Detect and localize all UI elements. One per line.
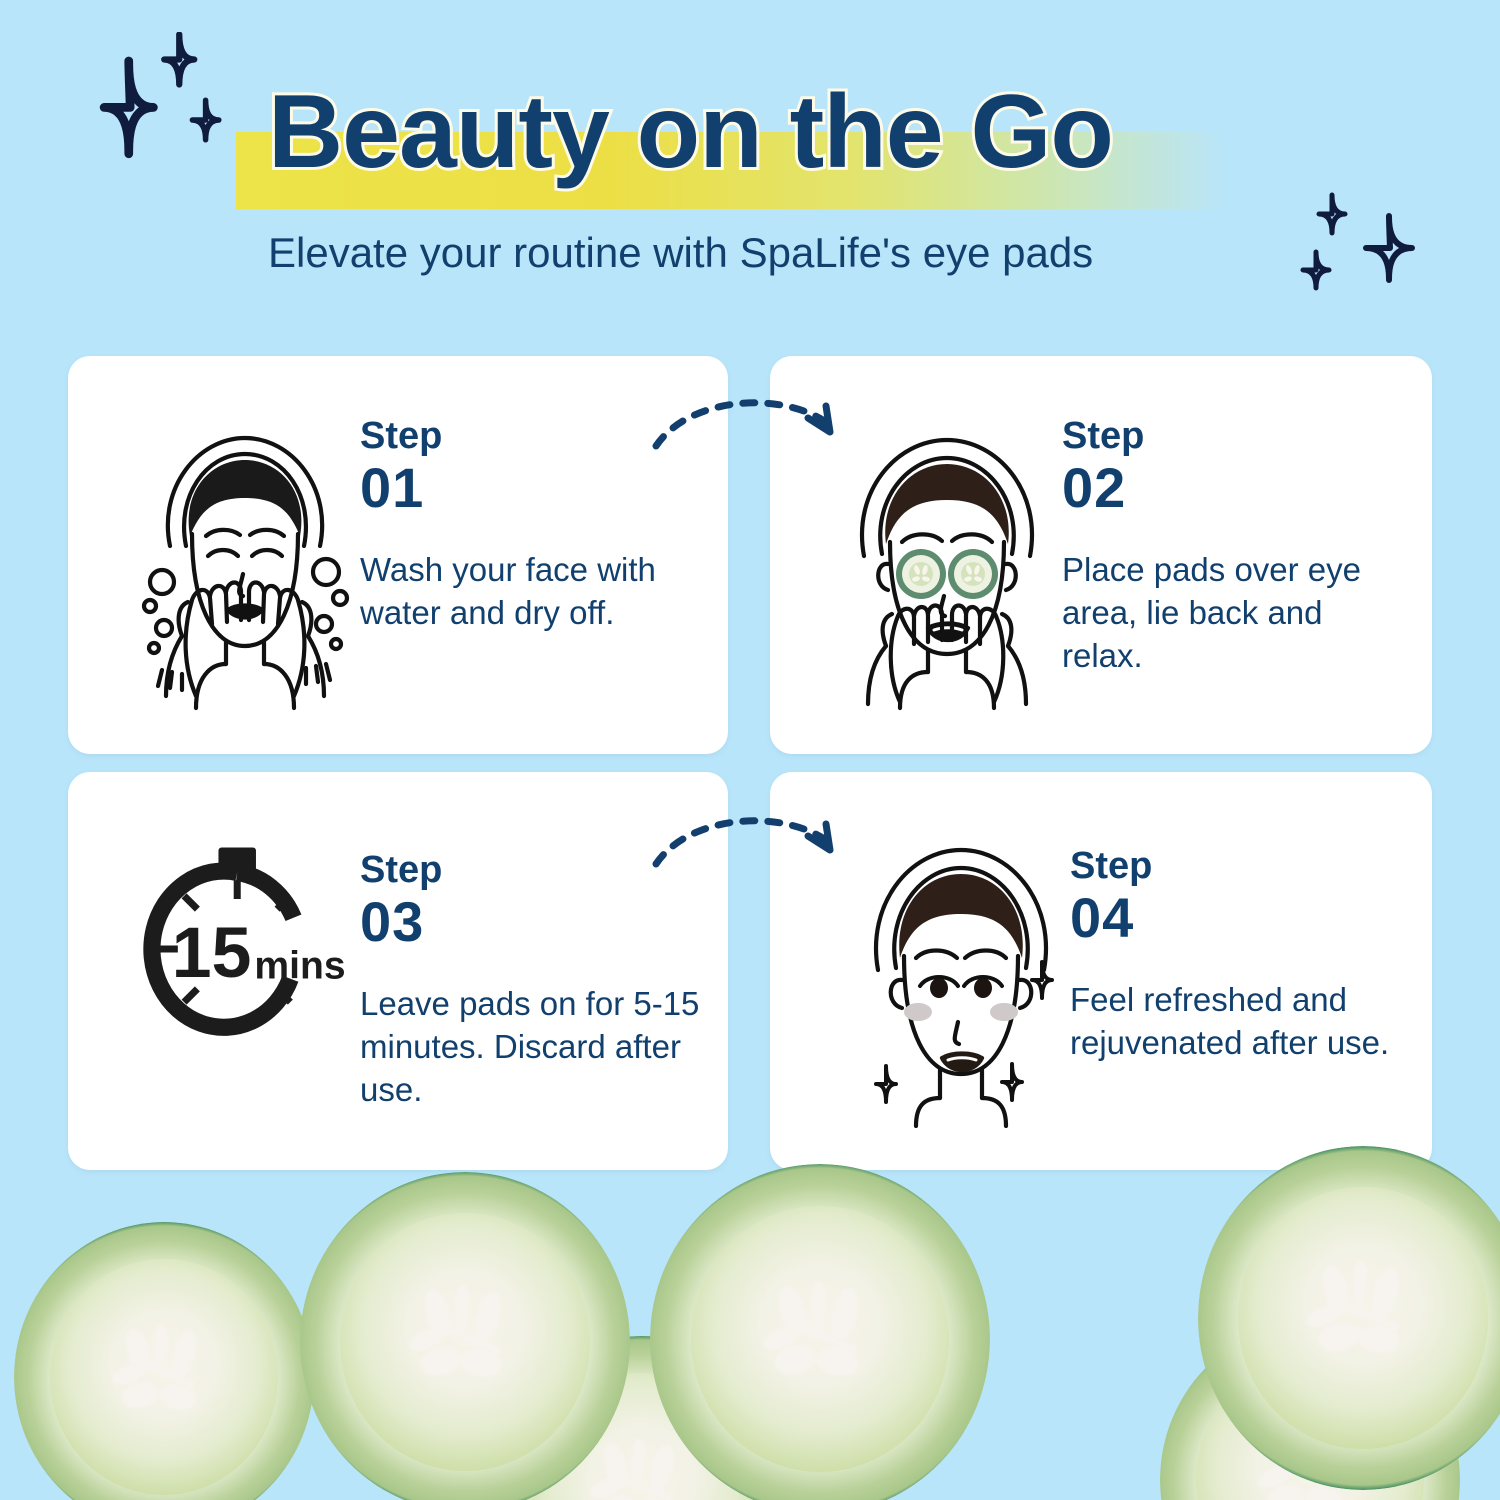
dashed-arrow-row2-icon [648, 806, 858, 876]
stopwatch-icon: 15 mins [88, 824, 388, 1074]
step-label: Step [1070, 844, 1410, 888]
step-description: Place pads over eye area, lie back and r… [1062, 548, 1402, 677]
step-number: 04 [1070, 888, 1410, 948]
timer-unit: mins [254, 945, 345, 988]
dashed-arrow-row1-icon [648, 388, 858, 458]
step-number: 02 [1062, 458, 1402, 518]
step-card-03[interactable]: 15 mins Step 03 Leave pads on for 5-15 m… [68, 772, 728, 1170]
step-card-03-text: Step 03 Leave pads on for 5-15 minutes. … [360, 848, 700, 1111]
step-card-01[interactable]: Step 01 Wash your face with water and dr… [68, 356, 728, 754]
step-number: 01 [360, 458, 700, 518]
step-card-04-text: Step 04 Feel refreshed and rejuvenated a… [1070, 844, 1410, 1064]
step-card-02-text: Step 02 Place pads over eye area, lie ba… [1062, 414, 1402, 677]
timer-value: 15 [172, 913, 252, 993]
woman-washing-face-icon [100, 396, 390, 716]
poster-canvas: Beauty on the Go Elevate your routine wi… [0, 0, 1500, 1500]
step-number: 03 [360, 892, 700, 952]
step-description: Feel refreshed and rejuvenated after use… [1070, 978, 1410, 1064]
step-card-04[interactable]: Step 04 Feel refreshed and rejuvenated a… [770, 772, 1432, 1170]
cucumber-pads-row [0, 1140, 1500, 1500]
step-description: Leave pads on for 5-15 minutes. Discard … [360, 982, 700, 1111]
cucumber-eye-pad [300, 1172, 630, 1500]
step-description: Wash your face with water and dry off. [360, 548, 700, 634]
refreshed-face-icon [816, 808, 1106, 1128]
cucumber-eye-pad [14, 1222, 314, 1500]
step-card-02[interactable]: Step 02 Place pads over eye area, lie ba… [770, 356, 1432, 754]
cucumber-eye-pad [650, 1164, 990, 1500]
step-label: Step [1062, 414, 1402, 458]
